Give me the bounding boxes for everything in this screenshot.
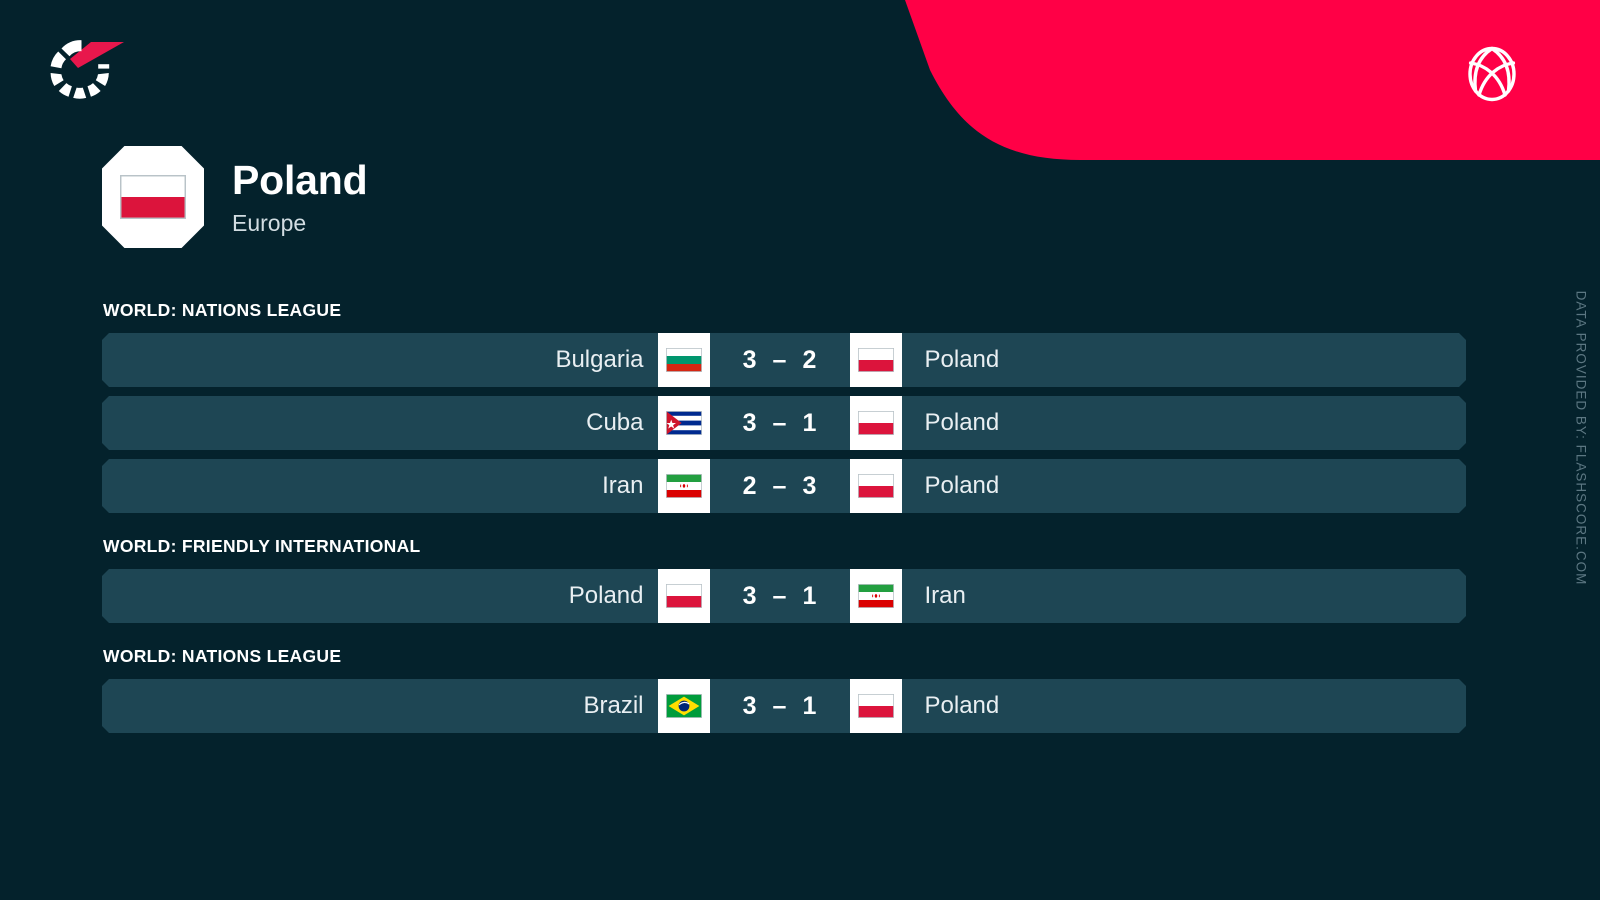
match-row[interactable]: Poland3–1Iran bbox=[102, 569, 1466, 623]
match-row[interactable]: Bulgaria3–2Poland bbox=[102, 333, 1466, 387]
score-separator: – bbox=[773, 582, 787, 611]
iran-flag-icon bbox=[666, 474, 702, 498]
volleyball-icon bbox=[1461, 43, 1523, 105]
score-separator: – bbox=[773, 409, 787, 438]
page-title: Poland bbox=[232, 159, 367, 202]
match-score: 3–1 bbox=[710, 396, 850, 450]
home-team-flag bbox=[658, 679, 710, 733]
match-list: WORLD: NATIONS LEAGUEBulgaria3–2PolandCu… bbox=[102, 300, 1466, 742]
away-team-flag bbox=[850, 569, 902, 623]
away-team-name: Poland bbox=[902, 333, 1467, 387]
away-team-name: Poland bbox=[902, 679, 1467, 733]
away-score: 2 bbox=[802, 346, 816, 375]
home-team-name: Cuba bbox=[102, 396, 658, 450]
home-team-flag bbox=[658, 569, 710, 623]
attribution-text: DATA PROVIDED BY: FLASHSCORE.COM bbox=[1574, 291, 1589, 586]
home-team-flag bbox=[658, 396, 710, 450]
away-team-name: Poland bbox=[902, 459, 1467, 513]
away-score: 3 bbox=[802, 472, 816, 501]
away-team-name: Poland bbox=[902, 396, 1467, 450]
poland-flag-icon bbox=[666, 584, 702, 608]
match-score: 2–3 bbox=[710, 459, 850, 513]
home-team-name: Brazil bbox=[102, 679, 658, 733]
team-header: Poland Europe bbox=[102, 146, 367, 248]
match-row[interactable]: Iran2–3Poland bbox=[102, 459, 1466, 513]
away-team-name: Iran bbox=[902, 569, 1467, 623]
away-team-flag bbox=[850, 396, 902, 450]
attribution: DATA PROVIDED BY: FLASHSCORE.COM bbox=[1570, 268, 1592, 608]
score-separator: – bbox=[773, 346, 787, 375]
away-score: 1 bbox=[802, 409, 816, 438]
score-separator: – bbox=[773, 692, 787, 721]
away-team-flag bbox=[850, 679, 902, 733]
team-text-block: Poland Europe bbox=[232, 159, 367, 235]
team-badge bbox=[102, 146, 204, 248]
match-score: 3–2 bbox=[710, 333, 850, 387]
match-row[interactable]: Brazil3–1Poland bbox=[102, 679, 1466, 733]
banner-shape bbox=[0, 0, 1600, 160]
cuba-flag-icon bbox=[666, 411, 702, 435]
home-score: 3 bbox=[743, 346, 757, 375]
section-title: WORLD: NATIONS LEAGUE bbox=[103, 646, 1466, 667]
poland-flag-badge-icon bbox=[120, 175, 186, 219]
section-title: WORLD: NATIONS LEAGUE bbox=[103, 300, 1466, 321]
away-team-flag bbox=[850, 459, 902, 513]
home-score: 3 bbox=[743, 409, 757, 438]
away-score: 1 bbox=[802, 582, 816, 611]
home-team-flag bbox=[658, 459, 710, 513]
home-team-name: Poland bbox=[102, 569, 658, 623]
bulgaria-flag-icon bbox=[666, 348, 702, 372]
home-score: 3 bbox=[743, 582, 757, 611]
match-score: 3–1 bbox=[710, 679, 850, 733]
poland-flag-icon bbox=[858, 411, 894, 435]
section-title: WORLD: FRIENDLY INTERNATIONAL bbox=[103, 536, 1466, 557]
team-region: Europe bbox=[232, 211, 367, 235]
home-score: 3 bbox=[743, 692, 757, 721]
home-team-name: Iran bbox=[102, 459, 658, 513]
brazil-flag-icon bbox=[666, 694, 702, 718]
home-team-flag bbox=[658, 333, 710, 387]
poland-flag-icon bbox=[858, 348, 894, 372]
flashscore-logo-icon[interactable] bbox=[42, 35, 126, 111]
top-banner bbox=[0, 0, 1600, 160]
iran-flag-icon bbox=[858, 584, 894, 608]
home-score: 2 bbox=[743, 472, 757, 501]
match-row[interactable]: Cuba3–1Poland bbox=[102, 396, 1466, 450]
match-score: 3–1 bbox=[710, 569, 850, 623]
home-team-name: Bulgaria bbox=[102, 333, 658, 387]
poland-flag-icon bbox=[858, 694, 894, 718]
poland-flag-icon bbox=[858, 474, 894, 498]
away-team-flag bbox=[850, 333, 902, 387]
score-separator: – bbox=[773, 472, 787, 501]
away-score: 1 bbox=[802, 692, 816, 721]
